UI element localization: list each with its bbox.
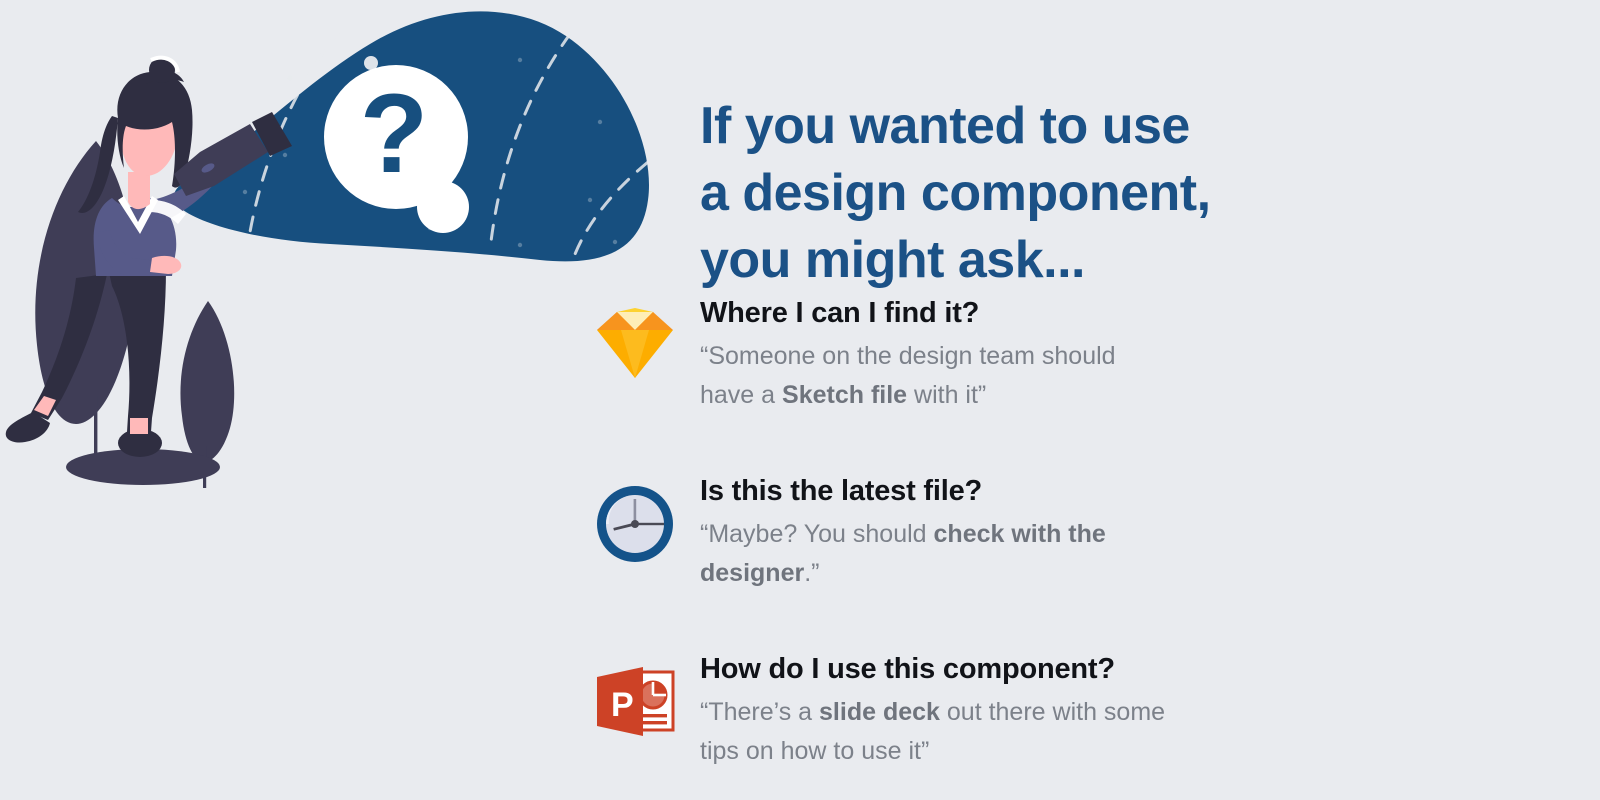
sketch-logo-icon [595,296,675,382]
list-item: P How do I use this component? “There’s … [595,652,1495,771]
list-item-title: Is this the latest file? [700,474,1495,508]
list-item: Where I can I find it? “Someone on the d… [595,296,1495,415]
clock-icon [595,474,675,560]
svg-text:P: P [611,686,634,724]
list-item-title: Where I can I find it? [700,296,1495,330]
list-item-quote: “There’s a slide deck out there with som… [700,693,1200,771]
question-list: Where I can I find it? “Someone on the d… [595,296,1495,771]
slide-canvas: ? [0,0,1600,800]
page-title: If you wanted to use a design component,… [700,93,1320,294]
page-title-line-2: a design component, [700,160,1320,227]
list-item-title: How do I use this component? [700,652,1495,686]
list-item-quote: “Maybe? You should check with the design… [700,515,1170,593]
list-item-text: Where I can I find it? “Someone on the d… [675,296,1495,415]
list-item-text: Is this the latest file? “Maybe? You sho… [675,474,1495,593]
page-title-line-3: you might ask... [700,227,1320,294]
powerpoint-logo-icon: P [595,652,675,738]
list-item-quote: “Someone on the design team should have … [700,337,1170,415]
list-item-text: How do I use this component? “There’s a … [675,652,1495,771]
figure-neck [128,172,150,209]
page-title-line-1: If you wanted to use [700,93,1320,160]
woman-with-telescope-illustration: ? [0,0,680,500]
list-item: Is this the latest file? “Maybe? You sho… [595,474,1495,593]
question-mark-glyph: ? [360,71,428,196]
